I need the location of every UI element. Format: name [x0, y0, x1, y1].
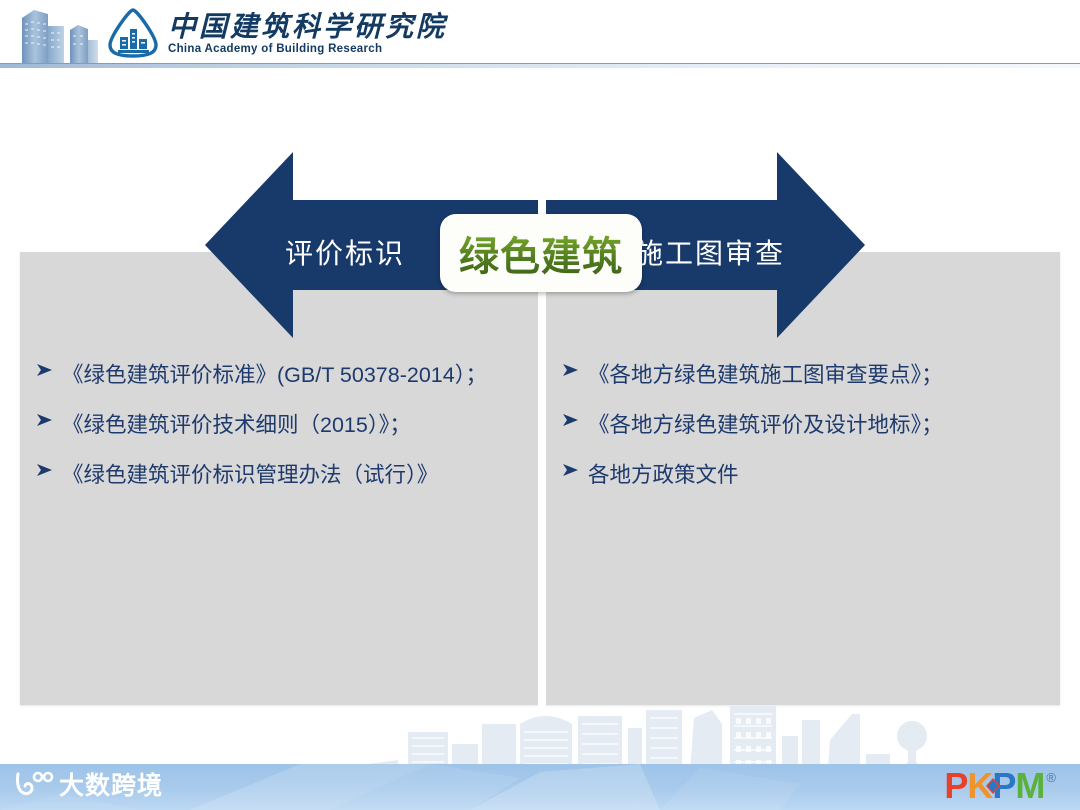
list-item: 《各地方绿色建筑施工图审查要点》； — [562, 357, 1062, 393]
org-name-en: China Academy of Building Research — [168, 43, 447, 55]
list-item: 《绿色建筑评价标识管理办法（试行）》 — [36, 457, 546, 493]
chevron-right-bullet-icon — [562, 407, 588, 427]
list-item: 各地方政策文件 — [562, 457, 1062, 493]
chevron-right-bullet-icon — [36, 357, 62, 377]
slide-header: 中国建筑科学研究院 China Academy of Building Rese… — [0, 0, 1080, 68]
watermark-label: 大数跨境 — [59, 766, 163, 802]
dashu-kuajing-logo-icon — [14, 771, 54, 797]
list-item: 《绿色建筑评价标准》(GB/T 50378-2014）； — [36, 357, 546, 393]
left-bullet-list: 《绿色建筑评价标准》(GB/T 50378-2014）； 《绿色建筑评价技术细则… — [36, 357, 546, 507]
chevron-right-bullet-icon — [562, 457, 588, 477]
list-item-label: 《各地方绿色建筑评价及设计地标》； — [588, 407, 1062, 443]
org-name-cn: 中国建筑科学研究院 — [168, 13, 447, 42]
list-item: 《各地方绿色建筑评价及设计地标》； — [562, 407, 1062, 443]
green-building-badge: 绿色建筑 — [440, 214, 642, 292]
chevron-right-bullet-icon — [36, 457, 62, 477]
header-divider — [0, 63, 1080, 68]
badge-label: 绿色建筑 — [459, 224, 623, 282]
chevron-right-bullet-icon — [36, 407, 62, 427]
office-buildings-icon — [14, 4, 112, 64]
watermark: 大数跨境 — [14, 766, 163, 802]
list-item-label: 《绿色建筑评价标准》(GB/T 50378-2014）； — [62, 357, 546, 393]
list-item-label: 《绿色建筑评价标识管理办法（试行）》 — [62, 457, 546, 493]
right-bullet-list: 《各地方绿色建筑施工图审查要点》； 《各地方绿色建筑评价及设计地标》； 各地方政… — [562, 357, 1062, 507]
left-arrow-label: 评价标识 — [285, 232, 405, 272]
list-item-label: 各地方政策文件 — [588, 457, 1062, 493]
pkpm-diamond-icon — [985, 777, 1001, 795]
list-item: 《绿色建筑评价技术细则（2015）》； — [36, 407, 546, 443]
chevron-right-bullet-icon — [562, 357, 588, 377]
registered-mark: ® — [1046, 770, 1056, 785]
pkpm-logo: PKPM ® — [944, 768, 1056, 804]
list-item-label: 《绿色建筑评价技术细则（2015）》； — [62, 407, 546, 443]
right-arrow-label: 施工图审查 — [635, 232, 785, 272]
cabr-logo: 中国建筑科学研究院 China Academy of Building Rese… — [104, 4, 447, 62]
cabr-emblem-icon — [104, 7, 162, 59]
list-item-label: 《各地方绿色建筑施工图审查要点》； — [588, 357, 1062, 393]
